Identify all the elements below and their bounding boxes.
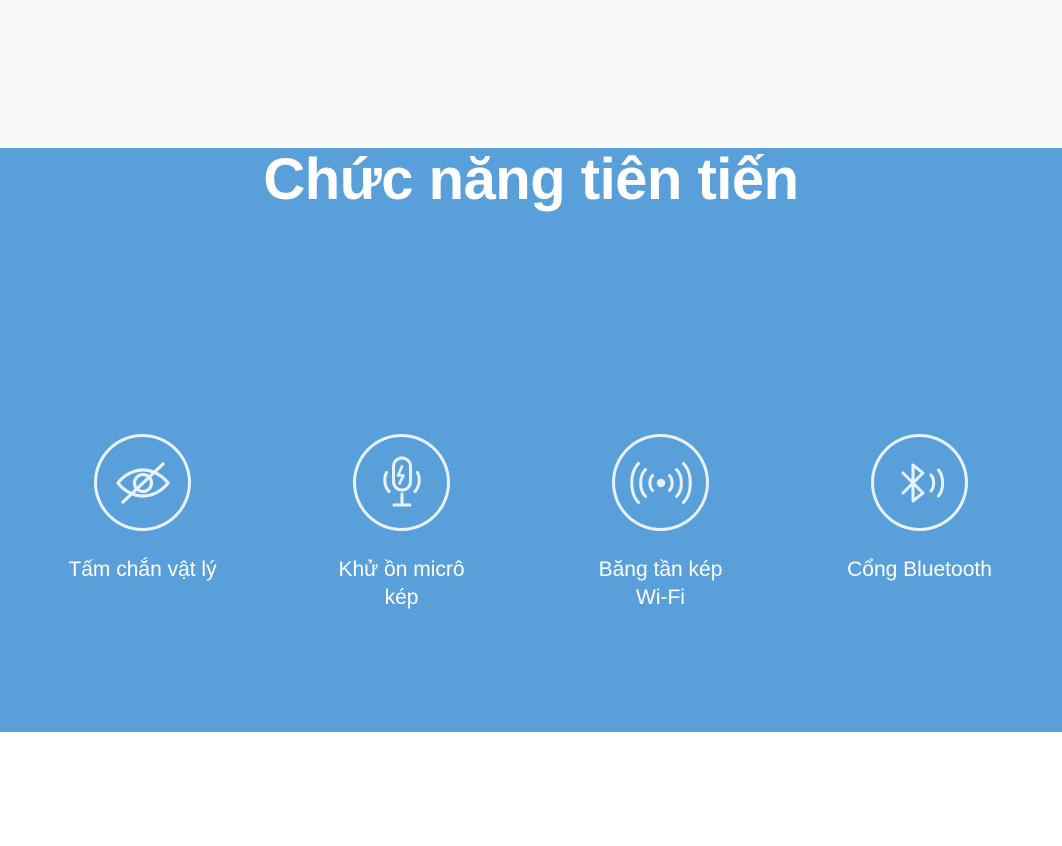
- eye-slash-icon: [94, 434, 191, 531]
- feature-list: Tấm chắn vật lý Khử ồn micrô kép: [0, 434, 1062, 611]
- feature-label: Cổng Bluetooth: [847, 556, 992, 584]
- microphone-noise-cancel-icon: [353, 434, 450, 531]
- feature-item-physical-shutter: Tấm chắn vật lý: [20, 434, 265, 584]
- top-spacer-strip: [0, 0, 1062, 148]
- feature-item-dual-band-wifi: Băng tần kép Wi-Fi: [538, 434, 783, 611]
- bluetooth-icon: [871, 434, 968, 531]
- page-title: Chức năng tiên tiến: [0, 148, 1062, 212]
- feature-label: Tấm chắn vật lý: [68, 556, 216, 584]
- feature-section-page: Chức năng tiên tiến Tấm chắn vật lý: [0, 0, 1062, 846]
- feature-item-bluetooth-gateway: Cổng Bluetooth: [797, 434, 1042, 584]
- bottom-spacer-strip: [0, 732, 1062, 846]
- feature-label: Khử ồn micrô kép: [338, 556, 464, 611]
- feature-label: Băng tần kép Wi-Fi: [599, 556, 723, 611]
- feature-item-mic-noise-cancel: Khử ồn micrô kép: [279, 434, 524, 611]
- wireless-signal-icon: [612, 434, 709, 531]
